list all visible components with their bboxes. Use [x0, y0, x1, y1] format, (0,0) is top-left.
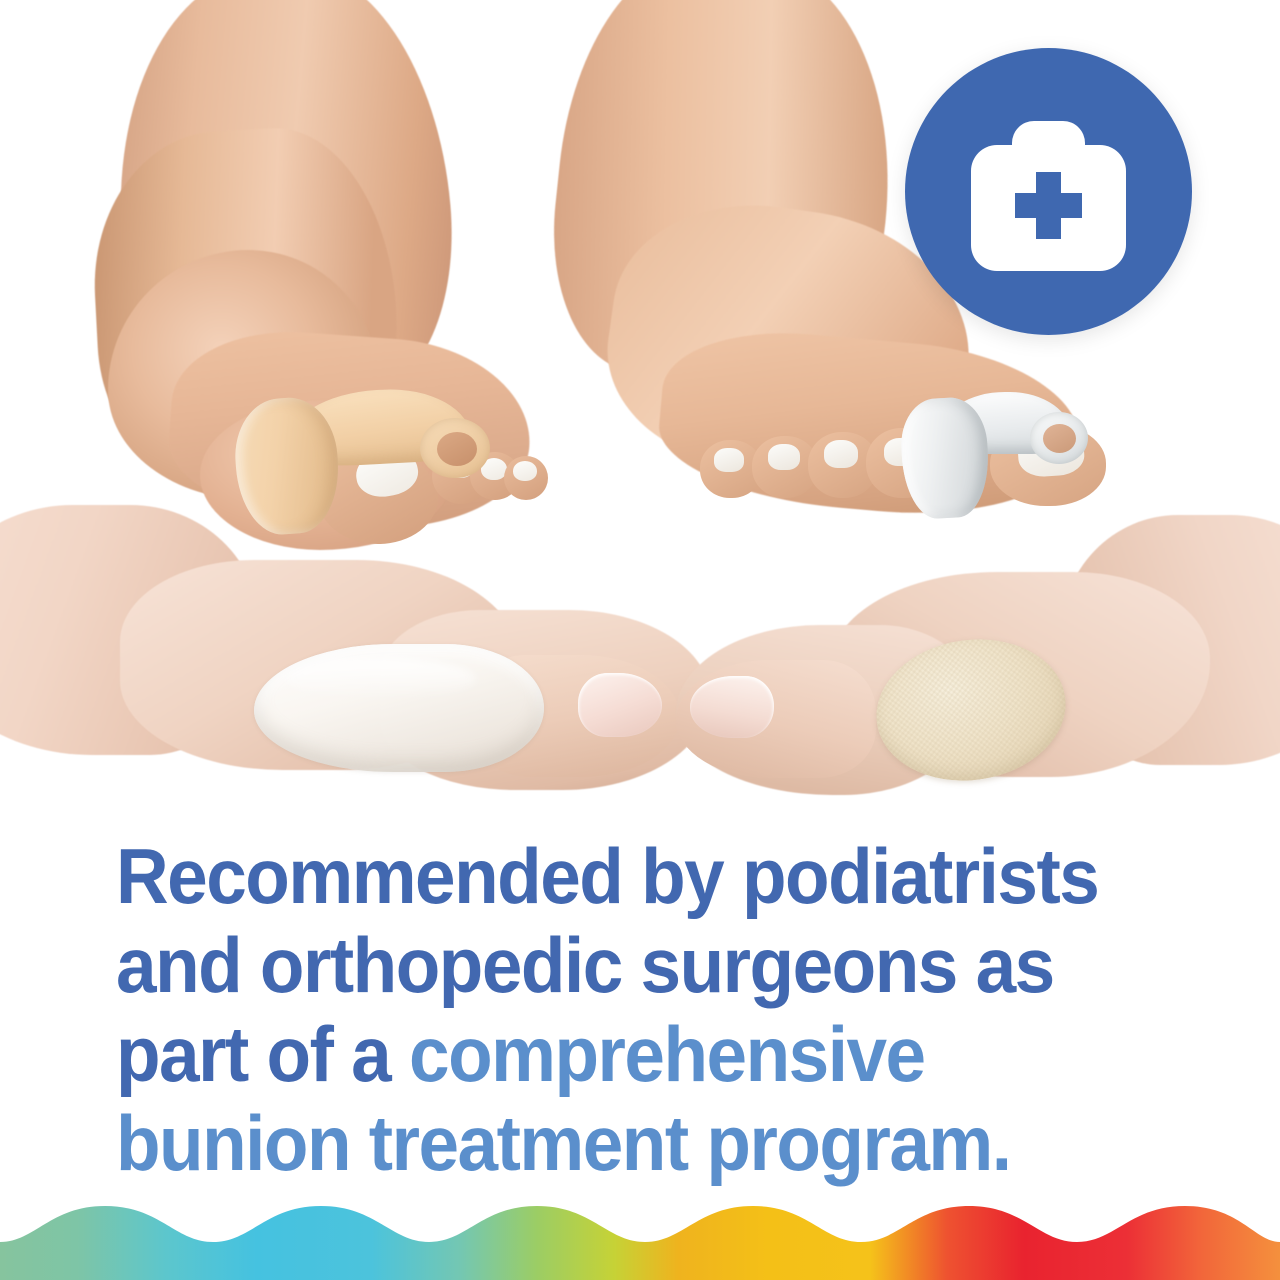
headline-line-1: Recommended by podiatrists [116, 832, 1107, 921]
wave-shape [0, 1206, 1280, 1280]
third-toe-nail [824, 440, 858, 468]
rainbow-wave-footer [0, 1190, 1280, 1280]
headline-line-3-light: comprehensive [409, 1010, 925, 1098]
big-toe-nail [690, 676, 774, 738]
gel-shield-highlight [286, 658, 476, 700]
fifth-toe-nail [714, 448, 744, 472]
fourth-toe-nail [768, 444, 800, 470]
separator-loop-opening [437, 432, 477, 466]
headline-line-3-dark: part of a [116, 1010, 409, 1098]
fourth-toe-nail [513, 461, 537, 481]
headline-line-3: part of a comprehensive [116, 1010, 1107, 1099]
headline-line-2: and orthopedic surgeons as [116, 921, 1107, 1010]
big-toe-nail [578, 673, 662, 737]
headline-line-4: bunion treatment program. [116, 1099, 1107, 1188]
poster-canvas: Recommended by podiatrists and orthopedi… [0, 0, 1280, 1280]
spacer-loop-opening [1043, 424, 1076, 453]
headline: Recommended by podiatrists and orthopedi… [116, 832, 1107, 1188]
medical-bag-badge [905, 48, 1192, 335]
